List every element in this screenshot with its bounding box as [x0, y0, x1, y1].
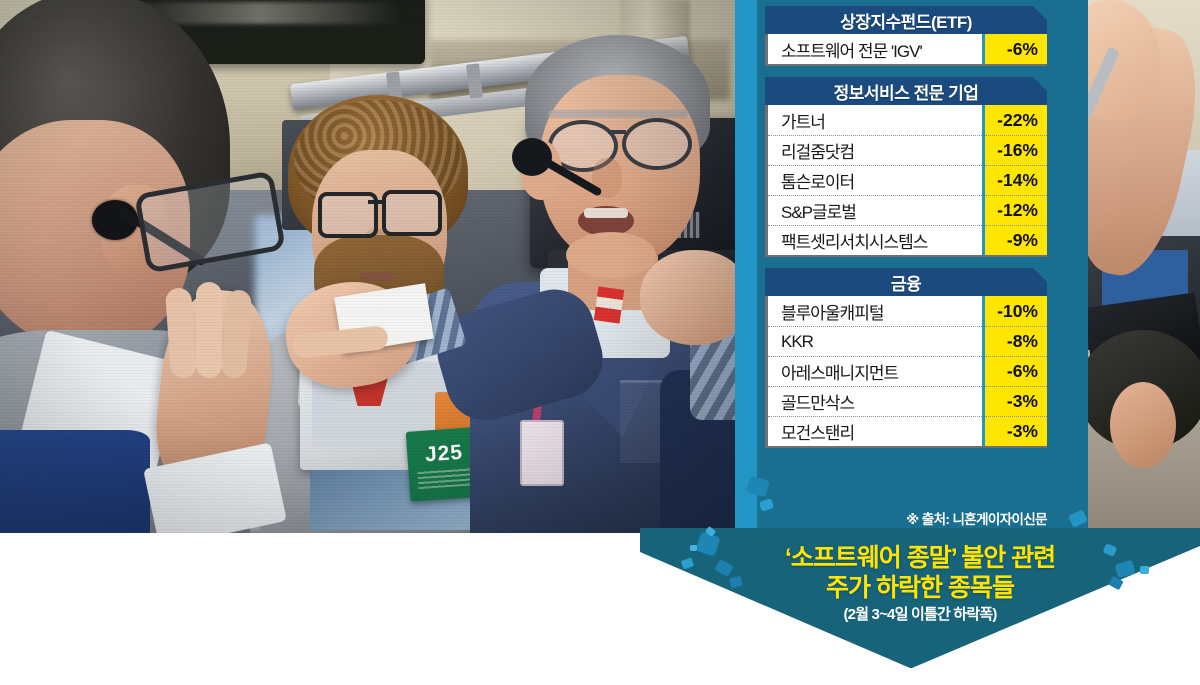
right-photo-person-ear: [1110, 382, 1176, 468]
trading-floor-photo: J25: [0, 0, 740, 533]
section-header-finance: 금융: [765, 268, 1047, 296]
table-row-value: -6%: [985, 356, 1047, 386]
table-row-value: -3%: [985, 386, 1047, 416]
table-row-value: -12%: [985, 195, 1047, 225]
table-row: 가트너: [768, 105, 982, 135]
table-row-value: -6%: [985, 34, 1047, 64]
table-section-finance: 금융블루아울캐피털KKR아레스매니지먼트골드만삭스모건스탠리-10%-8%-6%…: [765, 268, 1047, 448]
banner-line-1: ‘소프트웨어 종말’ 불안 관련: [660, 543, 1180, 573]
table-section-info-service: 정보서비스 전문 기업가트너리걸줌닷컴톰슨로이터S&P글로벌팩트셋리서치시스템스…: [765, 77, 1047, 257]
section-header-info-service: 정보서비스 전문 기업: [765, 77, 1047, 105]
value-column: -6%: [982, 34, 1047, 64]
section-header-label: 금융: [891, 270, 921, 295]
section-header-label: 정보서비스 전문 기업: [834, 79, 979, 104]
debris-shard-icon: [1140, 566, 1149, 574]
table-row: 아레스매니지먼트: [768, 356, 982, 386]
section-body-info-service: 가트너리걸줌닷컴톰슨로이터S&P글로벌팩트셋리서치시스템스-22%-16%-14…: [765, 105, 1047, 257]
value-column: -22%-16%-14%-12%-9%: [982, 105, 1047, 255]
table-row-value: -16%: [985, 135, 1047, 165]
table-row: 리걸줌닷컴: [768, 135, 982, 165]
table-row: 모건스탠리: [768, 416, 982, 446]
table-row-value: -14%: [985, 165, 1047, 195]
panel-accent-band: [735, 0, 757, 533]
name-column: 블루아울캐피털KKR아레스매니지먼트골드만삭스모건스탠리: [768, 296, 982, 446]
section-body-finance: 블루아울캐피털KKR아레스매니지먼트골드만삭스모건스탠리-10%-8%-6%-3…: [765, 296, 1047, 448]
value-column: -10%-8%-6%-3%-3%: [982, 296, 1047, 446]
table-row: S&P글로벌: [768, 195, 982, 225]
table-row-value: -9%: [985, 225, 1047, 255]
debris-shard-icon: [690, 545, 697, 551]
right-photo-strip: [1088, 0, 1200, 533]
table-row: 톰슨로이터: [768, 165, 982, 195]
table-row-value: -22%: [985, 105, 1047, 135]
table-row: 팩트셋리서치시스템스: [768, 225, 982, 255]
photo-vignette: [0, 0, 740, 533]
table-row: 블루아울캐피털: [768, 296, 982, 326]
section-body-etf: 소프트웨어 전문 'IGV'-6%: [765, 34, 1047, 66]
name-column: 가트너리걸줌닷컴톰슨로이터S&P글로벌팩트셋리서치시스템스: [768, 105, 982, 255]
source-attribution: ※ 출처: 니혼게이자이신문: [765, 508, 1047, 528]
table-row-value: -8%: [985, 326, 1047, 356]
table-row-value: -3%: [985, 416, 1047, 446]
table-row: 골드만삭스: [768, 386, 982, 416]
table-row-value: -10%: [985, 296, 1047, 326]
table-row: KKR: [768, 326, 982, 356]
table-section-etf: 상장지수펀드(ETF)소프트웨어 전문 'IGV'-6%: [765, 6, 1047, 66]
stock-decline-table: 상장지수펀드(ETF)소프트웨어 전문 'IGV'-6%정보서비스 전문 기업가…: [765, 6, 1047, 459]
section-header-etf: 상장지수펀드(ETF): [765, 6, 1047, 34]
name-column: 소프트웨어 전문 'IGV': [768, 34, 982, 64]
section-header-label: 상장지수펀드(ETF): [840, 8, 972, 33]
banner-note: (2월 3~4일 이틀간 하락폭): [660, 603, 1180, 627]
table-row: 소프트웨어 전문 'IGV': [768, 34, 982, 64]
infographic-root: J25: [0, 0, 1200, 685]
